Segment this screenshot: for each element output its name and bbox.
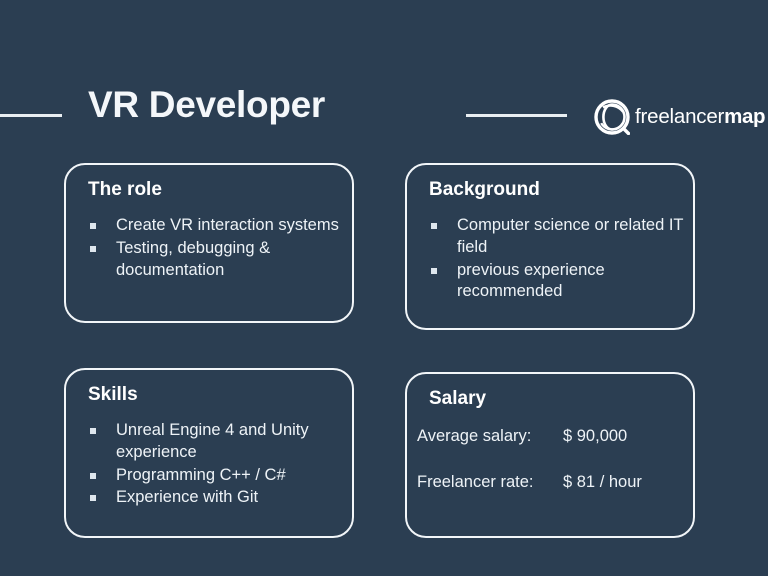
card-background: Background Computer science or related I… (405, 163, 695, 330)
bullet-square-icon (90, 473, 96, 479)
header-rule-right (466, 114, 567, 117)
card-skills: Skills Unreal Engine 4 and Unity experie… (64, 368, 354, 538)
card-title-salary: Salary (429, 388, 486, 410)
freelancermap-logo: freelancermap (594, 98, 765, 136)
card-the-role: The role Create VR interaction systems T… (64, 163, 354, 323)
bullet-square-icon (431, 223, 437, 229)
card-title-background: Background (429, 179, 540, 201)
list-item-label: Programming C++ / C# (116, 466, 286, 484)
list-item-label: Experience with Git (116, 488, 258, 506)
bullet-square-icon (90, 246, 96, 252)
list-item: Create VR interaction systems (86, 215, 344, 237)
bullet-square-icon (90, 428, 96, 434)
salary-label-average: Average salary: (417, 427, 563, 447)
bullet-list-background: Computer science or related IT field pre… (427, 215, 685, 304)
salary-value-average: $ 90,000 (563, 427, 683, 447)
page-title: VR Developer (88, 86, 325, 123)
logo-word-freelancer: freelancer (635, 105, 724, 128)
list-item: Testing, debugging & documentation (86, 238, 344, 282)
salary-value-freelancer: $ 81 / hour (563, 473, 683, 493)
card-salary: Salary Average salary: $ 90,000 Freelanc… (405, 372, 695, 538)
list-item-label: Unreal Engine 4 and Unity experience (116, 421, 309, 461)
card-title-skills: Skills (88, 384, 138, 406)
list-item: Computer science or related IT field (427, 215, 685, 259)
freelancermap-globe-icon (594, 99, 630, 135)
card-title-the-role: The role (88, 179, 162, 201)
list-item: Experience with Git (86, 487, 344, 509)
list-item: Programming C++ / C# (86, 465, 344, 487)
bullet-list-skills: Unreal Engine 4 and Unity experience Pro… (86, 420, 344, 510)
logo-wordmark: freelancermap (635, 107, 765, 128)
logo-word-map: map (724, 105, 765, 128)
salary-row-average: Average salary: $ 90,000 (417, 427, 683, 447)
list-item: previous experience recommended (427, 260, 685, 304)
slide-header: VR Developer freelancermap (0, 42, 768, 104)
bullet-square-icon (90, 495, 96, 501)
list-item-label: Testing, debugging & documentation (116, 239, 270, 279)
list-item-label: Create VR interaction systems (116, 216, 339, 234)
slide-canvas: VR Developer freelancermap The role Crea… (0, 0, 768, 576)
bullet-square-icon (431, 268, 437, 274)
salary-label-freelancer: Freelancer rate: (417, 473, 563, 493)
salary-row-freelancer: Freelancer rate: $ 81 / hour (417, 473, 683, 493)
header-rule-left (0, 114, 62, 117)
list-item-label: previous experience recommended (457, 261, 605, 301)
bullet-list-the-role: Create VR interaction systems Testing, d… (86, 215, 344, 282)
salary-rows: Average salary: $ 90,000 Freelancer rate… (417, 427, 683, 519)
list-item-label: Computer science or related IT field (457, 216, 683, 256)
bullet-square-icon (90, 223, 96, 229)
list-item: Unreal Engine 4 and Unity experience (86, 420, 344, 464)
